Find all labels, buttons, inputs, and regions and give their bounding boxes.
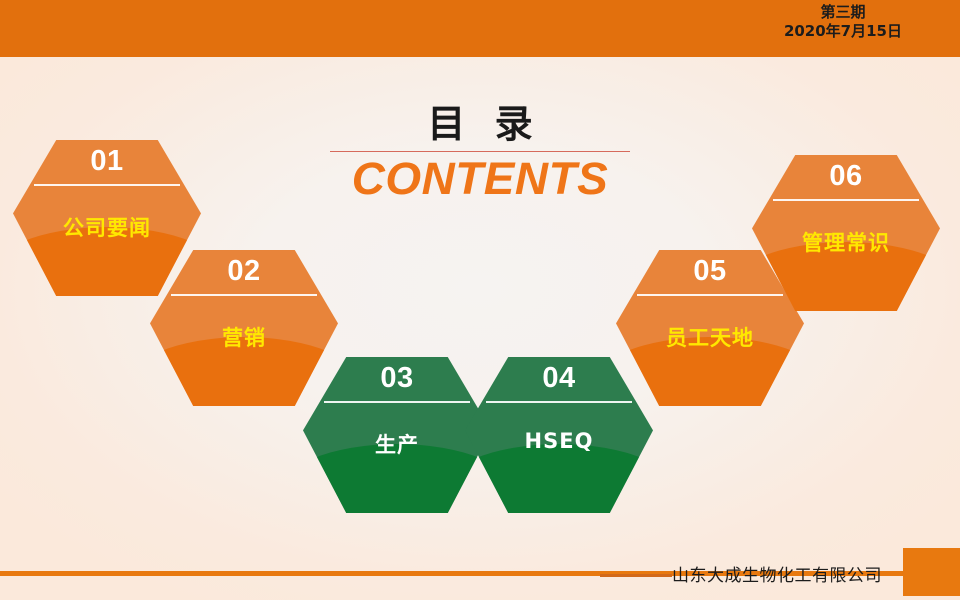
header-meta: 第三期 2020年7月15日 bbox=[784, 3, 902, 41]
issue-date: 2020年7月15日 bbox=[784, 22, 902, 41]
content-item-label: 营销 bbox=[150, 322, 338, 352]
slide-canvas: 第三期 2020年7月15日 目 录 CONTENTS 01 公司要闻 02 营… bbox=[0, 0, 960, 600]
footer-lead-line bbox=[600, 574, 672, 577]
content-item-04[interactable]: 04 HSEQ bbox=[465, 357, 653, 513]
hex-hairline bbox=[324, 401, 471, 403]
content-item-02[interactable]: 02 营销 bbox=[150, 250, 338, 406]
hex-hairline bbox=[486, 401, 633, 403]
footer-company-name: 山东大成生物化工有限公司 bbox=[672, 561, 882, 586]
content-item-number: 01 bbox=[13, 145, 201, 178]
hex-hairline bbox=[637, 294, 784, 296]
hex-hairline bbox=[34, 184, 181, 186]
hex-hairline bbox=[171, 294, 318, 296]
content-item-number: 02 bbox=[150, 255, 338, 288]
title-divider bbox=[330, 151, 630, 152]
content-item-01[interactable]: 01 公司要闻 bbox=[13, 140, 201, 296]
content-item-03[interactable]: 03 生产 bbox=[303, 357, 491, 513]
content-item-label: 管理常识 bbox=[752, 227, 940, 257]
title-english: CONTENTS bbox=[327, 154, 633, 204]
hex-hairline bbox=[773, 199, 920, 201]
issue-number: 第三期 bbox=[784, 3, 902, 22]
hex-arc-accent bbox=[465, 444, 653, 513]
content-item-number: 04 bbox=[465, 362, 653, 395]
hex-body-face bbox=[465, 401, 653, 513]
content-item-label: 公司要闻 bbox=[13, 212, 201, 242]
content-item-number: 03 bbox=[303, 362, 491, 395]
title-chinese: 目 录 bbox=[330, 104, 630, 144]
content-item-label: HSEQ bbox=[465, 429, 653, 453]
content-item-label: 员工天地 bbox=[616, 322, 804, 352]
page-title: 目 录 CONTENTS bbox=[330, 104, 630, 205]
footer-accent-block bbox=[903, 548, 960, 596]
content-item-label: 生产 bbox=[303, 429, 491, 459]
content-item-number: 06 bbox=[752, 160, 940, 193]
